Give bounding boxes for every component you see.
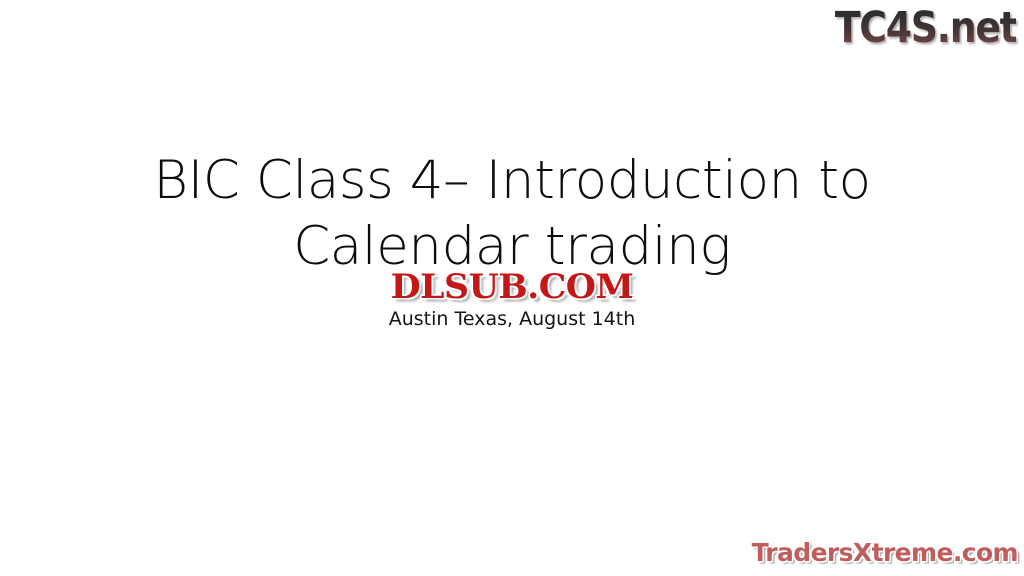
slide-title-block: BIC Class 4– Introduction to Calendar tr… <box>110 148 914 280</box>
slide-title: BIC Class 4– Introduction to Calendar tr… <box>110 148 914 280</box>
slide-subtitle: Austin Texas, August 14th <box>110 306 914 332</box>
watermark-tc4s-net: TC4S.net <box>834 2 1016 54</box>
watermark-dlsub-com: DLSUB.COM <box>0 268 1024 306</box>
watermark-tradersxtreme-com: TradersXtreme.com <box>752 538 1018 568</box>
presentation-slide: TC4S.net BIC Class 4– Introduction to Ca… <box>0 0 1024 576</box>
